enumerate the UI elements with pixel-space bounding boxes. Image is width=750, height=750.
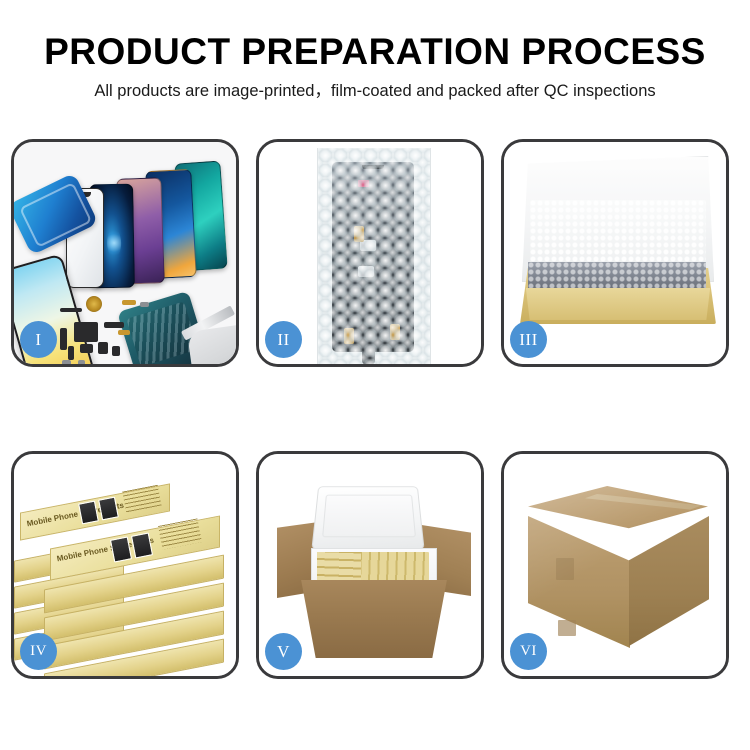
spare-parts-cluster [60, 294, 170, 364]
process-step-grid: I [11, 139, 739, 679]
step-badge-6: VI [510, 633, 547, 670]
bubble-layer-back [318, 148, 430, 364]
process-step-panel-1: I [11, 139, 239, 367]
carton-body [293, 580, 455, 658]
styrofoam-lid [311, 486, 424, 549]
step-badge-4: IV [20, 633, 57, 670]
page-title: PRODUCT PREPARATION PROCESS [0, 30, 750, 74]
page-subtitle: All products are image-printed，film-coat… [0, 80, 750, 102]
process-step-panel-4: Mobile Phone Spare Parts Mobile Phone Sp… [11, 451, 239, 679]
carton-mark-lower [558, 620, 576, 636]
product-preparation-infographic: PRODUCT PREPARATION PROCESS All products… [0, 0, 750, 750]
process-step-panel-5: V [256, 451, 484, 679]
carton-mark-upper [556, 558, 574, 580]
bubble-wrapped-units [528, 262, 706, 288]
process-step-panel-3: III [501, 139, 729, 367]
step-badge-1: I [20, 321, 57, 358]
step-badge-2: II [265, 321, 302, 358]
step-badge-5: V [265, 633, 302, 670]
process-step-panel-6: VI [501, 451, 729, 679]
step-badge-3: III [510, 321, 547, 358]
header: PRODUCT PREPARATION PROCESS All products… [0, 30, 750, 102]
bubble-wrap-bag [317, 148, 431, 364]
process-step-panel-2: II [256, 139, 484, 367]
box-tray-front-wall [522, 288, 714, 320]
